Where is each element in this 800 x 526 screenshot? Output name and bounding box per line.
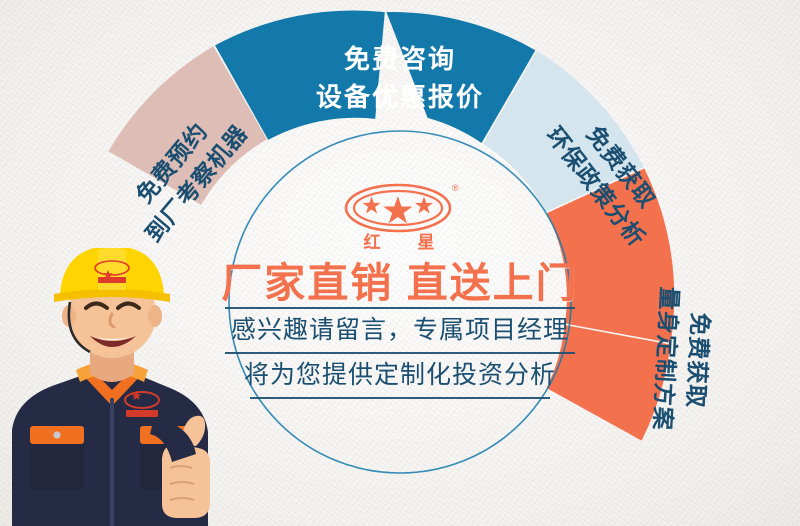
segment-2-line-1: 免费咨询 xyxy=(344,44,456,74)
worker-zipper xyxy=(110,398,114,526)
sub-line-2: 将为您提供定制化投资分析 xyxy=(188,354,612,397)
promo-banner: 免费预约 到厂考察机器 免费咨询 设备优惠报价 免费获取 环保政策分析 免费获取… xyxy=(0,0,800,526)
logo-char-left: 红 xyxy=(364,232,381,252)
center-content: ® 红 星 厂家直销 直送上门 感兴趣请留言，专属项目经理 将为您提供定制化投资… xyxy=(188,180,612,399)
worker-ear-right xyxy=(148,305,162,327)
worker-button-left xyxy=(53,431,60,438)
segment-2-line-2: 设备优惠报价 xyxy=(316,82,484,112)
logo-char-right: 星 xyxy=(418,233,435,252)
worker-illustration xyxy=(0,248,230,526)
worker-photo xyxy=(0,248,230,526)
brand-logo: ® 红 星 xyxy=(338,180,462,256)
divider-top xyxy=(225,307,575,309)
divider-bottom xyxy=(250,397,550,399)
segment-4-line-1: 免费获取 xyxy=(682,312,713,409)
worker-helmet-ridge xyxy=(98,248,126,290)
registered-mark: ® xyxy=(452,183,459,193)
hongxing-logo-icon: ® 红 星 xyxy=(338,180,462,256)
headline: 厂家直销 直送上门 xyxy=(188,262,612,305)
sub-line-1: 感兴趣请留言，专属项目经理 xyxy=(188,309,612,352)
segment-custom-plan-label: 免费获取 量身定制方案 xyxy=(649,286,714,433)
divider-middle xyxy=(225,352,575,354)
